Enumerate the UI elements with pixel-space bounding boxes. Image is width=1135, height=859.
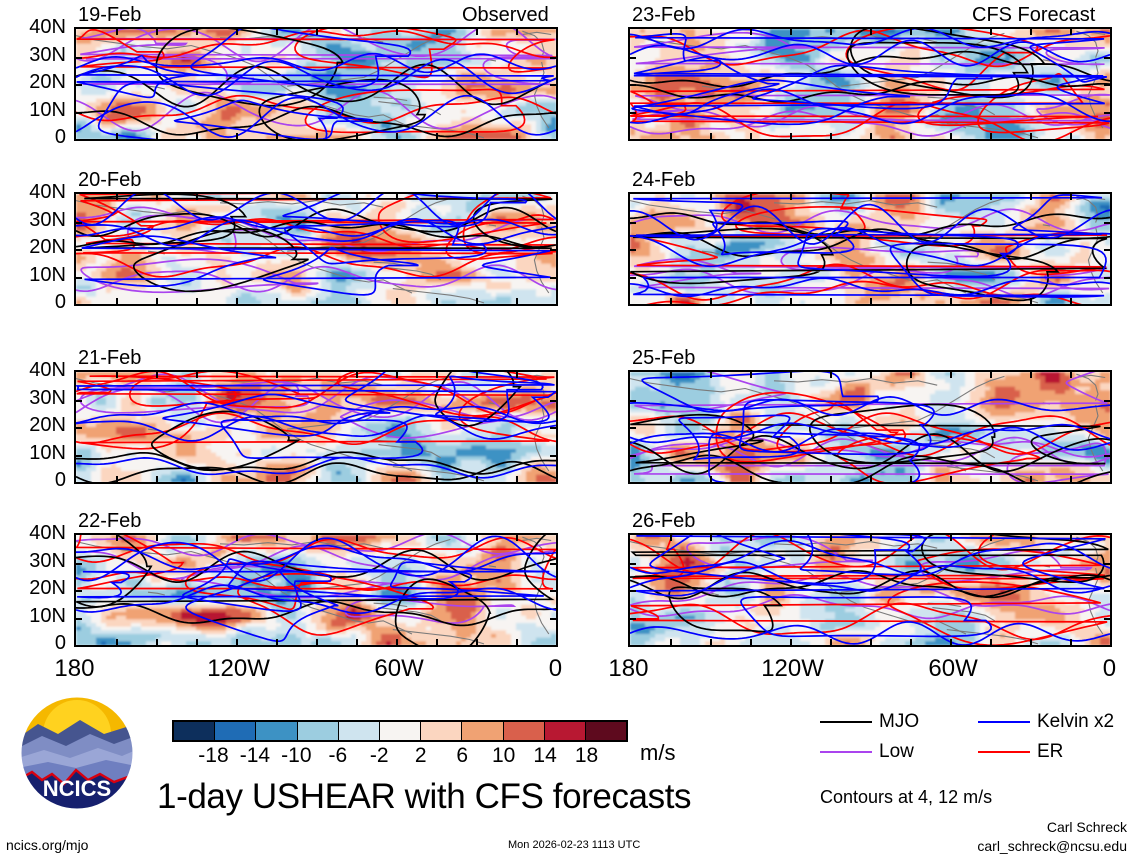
colorbar-segment: [256, 722, 297, 740]
legend: MJOKelvin x2LowER: [820, 712, 1120, 772]
legend-line-swatch: [978, 721, 1030, 723]
axis-tick: [156, 133, 158, 139]
axis-tick: [156, 639, 158, 645]
axis-tick: [436, 535, 438, 541]
axis-tick: [710, 476, 712, 482]
axis-tick: [116, 133, 118, 139]
axis-tick: [830, 29, 832, 35]
y-axis-tick-label: 0: [8, 633, 66, 653]
axis-tick: [236, 194, 238, 200]
axis-tick: [950, 372, 952, 378]
axis-tick: [316, 133, 318, 139]
legend-item: MJO: [820, 712, 919, 731]
y-axis-tick-label: 40N: [8, 360, 66, 380]
axis-tick: [950, 133, 952, 139]
axis-tick: [550, 57, 556, 59]
axis-tick: [1104, 112, 1110, 114]
axis-tick: [356, 298, 358, 304]
axis-tick: [236, 372, 238, 378]
axis-tick: [196, 535, 198, 541]
axis-tick: [630, 618, 636, 620]
y-axis-tick-label: 0: [8, 127, 66, 147]
legend-item: Kelvin x2: [978, 712, 1114, 731]
y-axis-tick-label: 10N: [8, 443, 66, 463]
axis-tick: [316, 194, 318, 200]
axis-tick: [276, 639, 278, 645]
colorbar-segment: [174, 722, 215, 740]
axis-tick: [550, 222, 556, 224]
panel-date-label: 22-Feb: [78, 511, 141, 531]
x-axis-tick-label: 0: [1103, 657, 1116, 681]
axis-tick: [830, 476, 832, 482]
axis-tick: [316, 476, 318, 482]
y-axis-tick-label: 30N: [8, 388, 66, 408]
colorbar-tick-label: -14: [240, 745, 270, 766]
legend-label: Low: [879, 742, 914, 761]
axis-tick: [516, 194, 518, 200]
legend-item: ER: [978, 742, 1063, 761]
colorbar-tick-label: 10: [492, 745, 515, 766]
axis-tick: [476, 372, 478, 378]
axis-tick: [710, 194, 712, 200]
axis-tick: [436, 372, 438, 378]
axis-tick: [236, 639, 238, 645]
axis-tick: [436, 133, 438, 139]
axis-tick: [476, 194, 478, 200]
axis-tick: [670, 639, 672, 645]
y-axis-tick-label: 0: [8, 292, 66, 312]
x-axis-tick-label: 60W: [928, 657, 977, 681]
map-plot-area: [74, 370, 558, 484]
colorbar-segment: [380, 722, 421, 740]
axis-tick: [436, 639, 438, 645]
axis-tick: [516, 476, 518, 482]
axis-tick: [910, 133, 912, 139]
y-axis-tick-label: 30N: [8, 210, 66, 230]
axis-tick: [396, 133, 398, 139]
legend-line-swatch: [820, 721, 872, 723]
axis-tick: [790, 476, 792, 482]
axis-tick: [550, 563, 556, 565]
axis-tick: [910, 476, 912, 482]
axis-tick: [630, 84, 636, 86]
axis-tick: [870, 133, 872, 139]
axis-tick: [1070, 298, 1072, 304]
axis-tick: [670, 476, 672, 482]
axis-tick: [476, 29, 478, 35]
axis-tick: [316, 29, 318, 35]
axis-tick: [196, 133, 198, 139]
axis-tick: [830, 133, 832, 139]
axis-tick: [436, 29, 438, 35]
panel-column-header: CFS Forecast: [972, 5, 1095, 25]
y-axis-tick-label: 40N: [8, 17, 66, 37]
axis-tick: [630, 563, 636, 565]
y-axis-tick-label: 40N: [8, 523, 66, 543]
axis-tick: [76, 455, 82, 457]
panel-date-label: 23-Feb: [632, 5, 695, 25]
axis-tick: [1104, 427, 1110, 429]
y-axis-tick-label: 10N: [8, 100, 66, 120]
axis-tick: [236, 29, 238, 35]
axis-tick: [670, 133, 672, 139]
axis-tick: [516, 298, 518, 304]
axis-tick: [790, 372, 792, 378]
axis-tick: [276, 372, 278, 378]
axis-tick: [790, 298, 792, 304]
map-plot-area: [74, 27, 558, 141]
axis-tick: [910, 194, 912, 200]
panel-date-label: 25-Feb: [632, 348, 695, 368]
colorbar-unit-label: m/s: [640, 742, 675, 764]
axis-tick: [670, 535, 672, 541]
x-axis-tick-label: 0: [549, 657, 562, 681]
map-plot-area: [628, 27, 1112, 141]
y-axis-tick-label: 40N: [8, 182, 66, 202]
colorbar-tick-label: 6: [456, 745, 468, 766]
colorbar-segment: [462, 722, 503, 740]
colorbar-tick-labels: -18-14-10-6-226101418: [172, 745, 628, 771]
axis-tick: [870, 29, 872, 35]
axis-tick: [156, 29, 158, 35]
axis-tick: [1030, 372, 1032, 378]
axis-tick: [236, 133, 238, 139]
colorbar-tick-label: 14: [533, 745, 556, 766]
axis-tick: [710, 29, 712, 35]
axis-tick: [476, 133, 478, 139]
axis-tick: [1030, 476, 1032, 482]
axis-tick: [436, 298, 438, 304]
axis-tick: [196, 298, 198, 304]
axis-tick: [750, 133, 752, 139]
axis-tick: [950, 298, 952, 304]
axis-tick: [790, 535, 792, 541]
y-axis-tick-label: 0: [8, 470, 66, 490]
axis-tick: [670, 29, 672, 35]
axis-tick: [990, 372, 992, 378]
axis-tick: [1070, 639, 1072, 645]
axis-tick: [990, 639, 992, 645]
axis-tick: [750, 194, 752, 200]
axis-tick: [316, 298, 318, 304]
x-axis-tick-label: 180: [608, 657, 648, 681]
axis-tick: [990, 29, 992, 35]
colorbar-segment: [504, 722, 545, 740]
axis-tick: [550, 590, 556, 592]
axis-tick: [630, 57, 636, 59]
axis-tick: [1030, 535, 1032, 541]
legend-item: Low: [820, 742, 914, 761]
axis-tick: [356, 29, 358, 35]
y-axis-tick-label: 10N: [8, 606, 66, 626]
axis-tick: [1104, 455, 1110, 457]
axis-tick: [516, 133, 518, 139]
axis-tick: [1030, 133, 1032, 139]
axis-tick: [830, 372, 832, 378]
colorbar-segment: [545, 722, 586, 740]
axis-tick: [276, 29, 278, 35]
axis-tick: [356, 194, 358, 200]
axis-tick: [870, 476, 872, 482]
axis-tick: [910, 29, 912, 35]
axis-tick: [1104, 84, 1110, 86]
colorbar-tick-label: -18: [198, 745, 228, 766]
axis-tick: [990, 476, 992, 482]
author-email[interactable]: carl_schreck@ncsu.edu: [977, 839, 1127, 853]
axis-tick: [156, 298, 158, 304]
axis-tick: [630, 427, 636, 429]
axis-tick: [630, 590, 636, 592]
axis-tick: [76, 563, 82, 565]
axis-tick: [1104, 400, 1110, 402]
axis-tick: [516, 639, 518, 645]
axis-tick: [156, 535, 158, 541]
axis-tick: [276, 133, 278, 139]
x-axis-tick-label: 120W: [207, 657, 270, 681]
axis-tick: [76, 427, 82, 429]
axis-tick: [1030, 298, 1032, 304]
axis-tick: [356, 639, 358, 645]
axis-tick: [990, 133, 992, 139]
x-axis-tick-label: 120W: [761, 657, 824, 681]
axis-tick: [116, 639, 118, 645]
colorbar-segment: [215, 722, 256, 740]
axis-tick: [1070, 476, 1072, 482]
site-link[interactable]: ncics.org/mjo: [6, 838, 88, 852]
panel-date-label: 26-Feb: [632, 511, 695, 531]
axis-tick: [830, 639, 832, 645]
colorbar-tick-label: -6: [328, 745, 347, 766]
axis-tick: [396, 476, 398, 482]
axis-tick: [196, 476, 198, 482]
axis-tick: [550, 249, 556, 251]
axis-tick: [196, 194, 198, 200]
axis-tick: [356, 476, 358, 482]
axis-tick: [910, 639, 912, 645]
panel-date-label: 21-Feb: [78, 348, 141, 368]
axis-tick: [1104, 57, 1110, 59]
axis-tick: [1104, 563, 1110, 565]
axis-tick: [436, 476, 438, 482]
axis-tick: [356, 372, 358, 378]
axis-tick: [630, 400, 636, 402]
axis-tick: [750, 29, 752, 35]
axis-tick: [236, 535, 238, 541]
axis-tick: [1104, 618, 1110, 620]
colorbar-tick-label: 18: [575, 745, 598, 766]
axis-tick: [550, 84, 556, 86]
axis-tick: [670, 194, 672, 200]
axis-tick: [830, 535, 832, 541]
map-plot-area: [628, 192, 1112, 306]
axis-tick: [316, 535, 318, 541]
axis-tick: [550, 455, 556, 457]
y-axis-tick-label: 30N: [8, 45, 66, 65]
axis-tick: [550, 277, 556, 279]
axis-tick: [316, 372, 318, 378]
axis-tick: [550, 618, 556, 620]
axis-tick: [76, 222, 82, 224]
axis-tick: [476, 535, 478, 541]
axis-tick: [396, 194, 398, 200]
axis-tick: [156, 372, 158, 378]
axis-tick: [276, 535, 278, 541]
author-name: Carl Schreck: [1047, 820, 1127, 834]
axis-tick: [710, 133, 712, 139]
y-axis-tick-label: 20N: [8, 578, 66, 598]
axis-tick: [790, 29, 792, 35]
axis-tick: [116, 372, 118, 378]
axis-tick: [870, 372, 872, 378]
legend-label: MJO: [879, 712, 919, 731]
axis-tick: [76, 590, 82, 592]
axis-tick: [670, 372, 672, 378]
y-axis-tick-label: 30N: [8, 551, 66, 571]
colorbar-tick-label: -10: [281, 745, 311, 766]
axis-tick: [196, 639, 198, 645]
axis-tick: [1104, 249, 1110, 251]
axis-tick: [950, 535, 952, 541]
axis-tick: [990, 535, 992, 541]
axis-tick: [156, 476, 158, 482]
map-plot-area: [628, 370, 1112, 484]
axis-tick: [436, 194, 438, 200]
axis-tick: [870, 298, 872, 304]
legend-label: Kelvin x2: [1037, 712, 1114, 731]
axis-tick: [396, 29, 398, 35]
axis-tick: [476, 476, 478, 482]
axis-tick: [276, 476, 278, 482]
axis-tick: [870, 535, 872, 541]
axis-tick: [116, 29, 118, 35]
axis-tick: [76, 112, 82, 114]
axis-tick: [950, 476, 952, 482]
axis-tick: [710, 298, 712, 304]
axis-tick: [950, 639, 952, 645]
axis-tick: [516, 372, 518, 378]
legend-label: ER: [1037, 742, 1063, 761]
axis-tick: [990, 298, 992, 304]
axis-tick: [516, 29, 518, 35]
y-axis-tick-label: 10N: [8, 265, 66, 285]
axis-tick: [910, 372, 912, 378]
y-axis-tick-label: 20N: [8, 415, 66, 435]
axis-tick: [76, 277, 82, 279]
axis-tick: [910, 298, 912, 304]
axis-tick: [870, 639, 872, 645]
y-axis-tick-label: 20N: [8, 72, 66, 92]
ncics-logo: NCICS: [18, 694, 136, 812]
axis-tick: [396, 372, 398, 378]
colorbar: [172, 720, 628, 742]
axis-tick: [76, 84, 82, 86]
axis-tick: [750, 298, 752, 304]
axis-tick: [1030, 194, 1032, 200]
colorbar-segment: [298, 722, 339, 740]
axis-tick: [196, 372, 198, 378]
axis-tick: [196, 29, 198, 35]
axis-tick: [1070, 535, 1072, 541]
axis-tick: [550, 112, 556, 114]
axis-tick: [1070, 133, 1072, 139]
x-axis-tick-label: 60W: [374, 657, 423, 681]
axis-tick: [710, 639, 712, 645]
axis-tick: [516, 535, 518, 541]
colorbar-tick-label: 2: [415, 745, 427, 766]
axis-tick: [790, 133, 792, 139]
axis-tick: [76, 57, 82, 59]
axis-tick: [750, 639, 752, 645]
axis-tick: [1070, 372, 1072, 378]
axis-tick: [750, 476, 752, 482]
axis-tick: [1104, 222, 1110, 224]
panel-date-label: 24-Feb: [632, 170, 695, 190]
panel-column-header: Observed: [462, 5, 549, 25]
axis-tick: [396, 298, 398, 304]
axis-tick: [630, 455, 636, 457]
axis-tick: [356, 535, 358, 541]
axis-tick: [1104, 277, 1110, 279]
map-plot-area: [74, 533, 558, 647]
axis-tick: [750, 372, 752, 378]
axis-tick: [396, 639, 398, 645]
colorbar-segment: [339, 722, 380, 740]
axis-tick: [550, 427, 556, 429]
axis-tick: [630, 277, 636, 279]
legend-line-swatch: [978, 751, 1030, 753]
map-plot-area: [628, 533, 1112, 647]
colorbar-segment: [586, 722, 626, 740]
axis-tick: [76, 249, 82, 251]
axis-tick: [950, 194, 952, 200]
axis-tick: [750, 535, 752, 541]
axis-tick: [550, 400, 556, 402]
axis-tick: [76, 618, 82, 620]
axis-tick: [830, 298, 832, 304]
colorbar-tick-label: -2: [370, 745, 389, 766]
timestamp: Mon 2026-02-23 1113 UTC: [508, 840, 640, 851]
panel-date-label: 20-Feb: [78, 170, 141, 190]
axis-tick: [1070, 29, 1072, 35]
axis-tick: [670, 298, 672, 304]
x-axis-tick-label: 180: [54, 657, 94, 681]
axis-tick: [910, 535, 912, 541]
page-title: 1-day USHEAR with CFS forecasts: [157, 779, 691, 814]
axis-tick: [990, 194, 992, 200]
axis-tick: [710, 535, 712, 541]
y-axis-tick-label: 20N: [8, 237, 66, 257]
axis-tick: [236, 476, 238, 482]
axis-tick: [156, 194, 158, 200]
axis-tick: [316, 639, 318, 645]
axis-tick: [630, 249, 636, 251]
legend-line-swatch: [820, 751, 872, 753]
axis-tick: [236, 298, 238, 304]
panel-date-label: 19-Feb: [78, 5, 141, 25]
axis-tick: [1030, 639, 1032, 645]
axis-tick: [870, 194, 872, 200]
axis-tick: [116, 476, 118, 482]
axis-tick: [790, 639, 792, 645]
axis-tick: [356, 133, 358, 139]
axis-tick: [116, 298, 118, 304]
axis-tick: [276, 298, 278, 304]
axis-tick: [276, 194, 278, 200]
axis-tick: [630, 112, 636, 114]
axis-tick: [1104, 590, 1110, 592]
axis-tick: [830, 194, 832, 200]
colorbar-segment: [421, 722, 462, 740]
